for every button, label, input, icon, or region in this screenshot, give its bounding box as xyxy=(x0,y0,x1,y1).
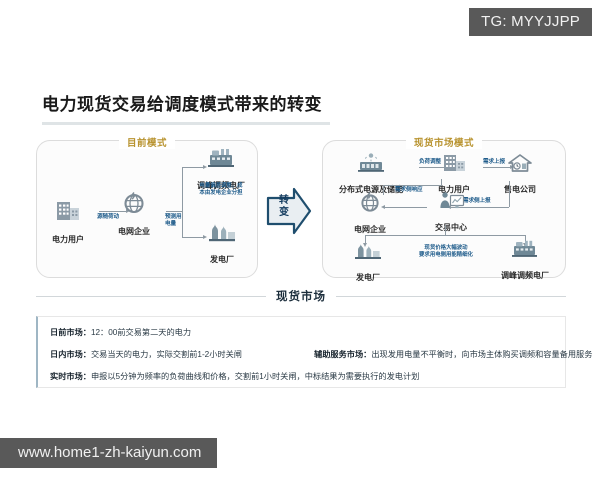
right-node-retailer: 售电公司 xyxy=(485,153,555,197)
spot-market-section-title: 现货市场 xyxy=(276,288,326,304)
right-panel-header-label: 现货市场模式 xyxy=(406,138,482,149)
left-node-grid: 电网企业 xyxy=(99,191,169,239)
transform-arrow-label-line1: 转 xyxy=(279,195,289,206)
right-panel-note: 现货价格大幅波动要求用电侧用能精细化 xyxy=(401,245,491,259)
spot-market-row-intraday: 日内市场：交易当天的电力，实际交割前1-2小时关闸 xyxy=(50,348,242,360)
right-node-generator-label: 发电厂 xyxy=(356,273,380,282)
spot-market-row-1-value: 12：00前交易第二天的电力 xyxy=(91,328,191,337)
thermal-plant-icon xyxy=(187,221,257,248)
spot-market-aux-value: 出现发用电量不平衡时，向市场主体购买调频和容量备用服务 xyxy=(371,350,592,359)
left-node-user-label: 电力用户 xyxy=(52,235,84,244)
building-icon xyxy=(419,153,489,178)
spot-market-section-header: 现货市场 xyxy=(36,288,566,304)
left-panel-header-label: 目前模式 xyxy=(119,138,175,149)
right-node-trading-center-label: 交易中心 xyxy=(435,223,467,232)
thermal-plant-icon xyxy=(333,241,403,266)
right-bottom-stem xyxy=(445,225,446,235)
right-node-grid-label: 电网企业 xyxy=(354,225,386,234)
right-panel-spot-market-mode: 现货市场模式 分布式电源及储能 负荷调整 xyxy=(322,140,566,278)
person-screen-icon xyxy=(416,191,486,216)
right-node-peak-plant-label: 调峰调频电厂 xyxy=(501,271,549,280)
power-plant-icon xyxy=(175,147,267,174)
globe-grid-icon xyxy=(99,191,169,220)
page-title: 电力现货交易给调度模式带来的转变 xyxy=(42,90,322,115)
spot-market-row-2-key: 日内市场： xyxy=(50,350,91,359)
left-panel-note: 电量偏差调整，成本由发电企业分担 xyxy=(185,183,257,197)
title-underline xyxy=(42,122,330,125)
spot-market-row-3-value: 申报以5分钟为频率的负荷曲线和价格，交割前1小时关闸，中标结果为需要执行的发电计… xyxy=(91,372,419,381)
left-branch-stem xyxy=(166,211,182,212)
power-plant-icon xyxy=(479,239,571,264)
right-panel-header: 现货市场模式 xyxy=(323,133,565,151)
right-node-peak-plant: 调峰调频电厂 xyxy=(479,239,571,283)
left-node-grid-label: 电网企业 xyxy=(118,227,150,236)
right-dr-hline xyxy=(383,185,441,186)
spot-market-row-day-ahead: 日前市场：12：00前交易第二天的电力 xyxy=(50,326,191,338)
globe-grid-icon xyxy=(335,191,405,218)
transform-arrow: 转 变 xyxy=(266,186,312,236)
left-node-generator: 发电厂 xyxy=(187,221,257,267)
right-dr-stem xyxy=(441,179,442,186)
transform-arrow-label-line2: 变 xyxy=(279,207,289,218)
site-watermark: www.home1-zh-kaiyun.com xyxy=(0,438,217,468)
right-du-vline xyxy=(509,181,510,207)
house-clock-icon xyxy=(485,153,555,178)
tg-badge: TG: MYYJJPP xyxy=(469,8,592,36)
left-node-user: 电力用户 xyxy=(33,199,103,247)
spot-market-row-1-key: 日前市场： xyxy=(50,328,91,337)
left-panel-current-mode: 目前模式 电力用户 xyxy=(36,140,258,278)
right-node-trading-center: 交易中心 xyxy=(416,191,486,235)
transform-arrow-label: 转 变 xyxy=(274,195,294,218)
solar-storage-icon xyxy=(325,153,417,178)
left-connector-label-2: 预测用电量 xyxy=(165,214,181,228)
section-rule-right xyxy=(336,296,566,297)
spot-market-row-realtime: 实时市场：申报以5分钟为频率的负荷曲线和价格，交割前1小时关闸，中标结果为需要执… xyxy=(50,370,419,382)
spot-market-aux-key: 辅助服务市场： xyxy=(314,350,371,359)
building-icon xyxy=(33,199,103,228)
section-rule-left xyxy=(36,296,266,297)
spot-market-row-3-key: 实时市场： xyxy=(50,372,91,381)
right-bottom-spine xyxy=(365,235,525,236)
spot-market-row-ancillary: 辅助服务市场：出现发用电量不平衡时，向市场主体购买调频和容量备用服务 xyxy=(314,348,592,360)
right-node-generator: 发电厂 xyxy=(333,241,403,285)
right-node-grid: 电网企业 xyxy=(335,191,405,237)
left-node-generator-label: 发电厂 xyxy=(210,255,234,264)
slide-canvas: TG: MYYJJPP 电力现货交易给调度模式带来的转变 目前模式 xyxy=(0,0,600,480)
spot-market-row-2-value: 交易当天的电力，实际交割前1-2小时关闸 xyxy=(91,350,242,359)
spot-market-table: 日前市场：12：00前交易第二天的电力 日内市场：交易当天的电力，实际交割前1-… xyxy=(36,316,566,388)
